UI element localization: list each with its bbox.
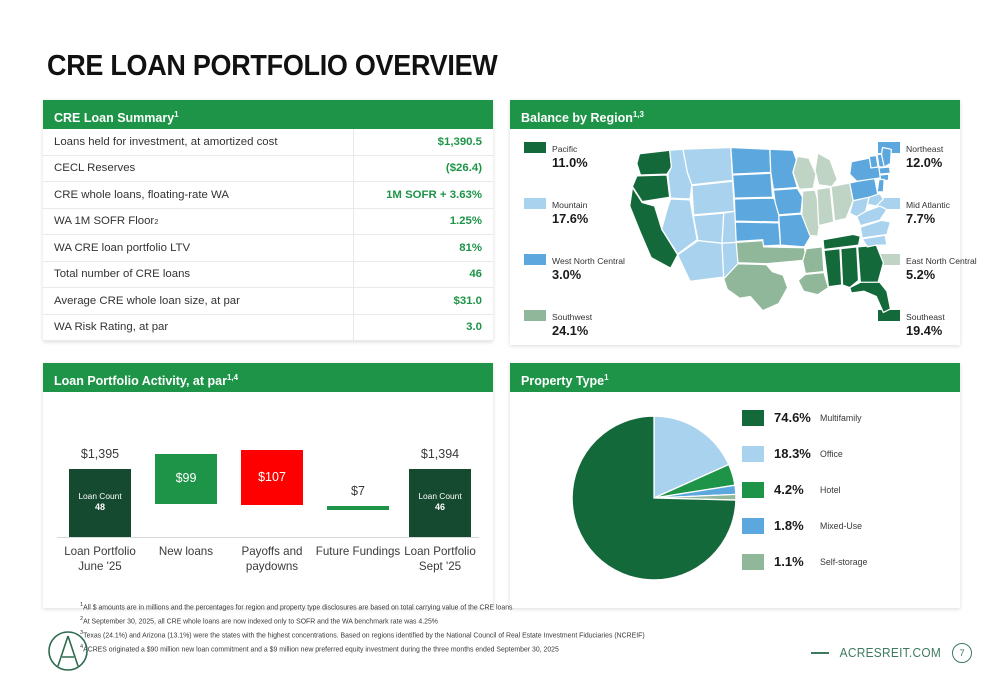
page-title: CRE LOAN PORTFOLIO OVERVIEW	[47, 50, 497, 83]
slide-canvas: CRE LOAN PORTFOLIO OVERVIEW CRE Loan Sum…	[0, 0, 1000, 685]
waterfall-category-line1: Loan Portfolio	[55, 544, 145, 559]
balance-by-region-body: Pacific11.0%Mountain17.6%West North Cent…	[510, 129, 960, 345]
waterfall-loan-count-label: Loan Count	[418, 491, 461, 501]
map-state-mi	[815, 153, 837, 187]
cre-loan-summary-panel: CRE Loan Summary1 Loans held for investm…	[43, 100, 493, 341]
table-row: WA 1M SOFR Floor21.25%	[43, 209, 493, 236]
waterfall-loan-count-value: 46	[409, 502, 471, 513]
summary-row-value: ($26.4)	[354, 162, 493, 174]
region-legend-label: Northeast	[906, 144, 996, 154]
waterfall-baseline	[57, 537, 479, 538]
property-type-legend-percent: 18.3%	[774, 446, 811, 461]
summary-row-label: Average CRE whole loan size, at par	[43, 288, 354, 314]
region-legend-swatch	[524, 198, 546, 209]
waterfall-category-line1: New loans	[141, 544, 231, 559]
region-legend-percent: 7.7%	[906, 211, 996, 226]
summary-row-label: WA CRE loan portfolio LTV	[43, 235, 354, 261]
region-legend-item: Mid Atlantic7.7%	[878, 195, 996, 226]
region-legend-swatch	[524, 310, 546, 321]
property-type-panel: Property Type1 74.6%Multifamily18.3%Offi…	[510, 363, 960, 608]
property-type-legend-percent: 4.2%	[774, 482, 804, 497]
map-state-ia	[773, 188, 802, 215]
footnote-text: At September 30, 2025, all CRE whole loa…	[83, 618, 438, 625]
map-state-oh	[831, 183, 853, 221]
region-legend-percent: 19.4%	[906, 323, 996, 338]
map-state-al	[841, 247, 859, 288]
map-state-wy	[692, 181, 735, 215]
table-row: Average CRE whole loan size, at par$31.0	[43, 288, 493, 315]
map-state-ar	[803, 247, 824, 274]
summary-row-footnote-ref: 2	[154, 217, 158, 226]
property-type-legend-swatch	[742, 410, 764, 426]
summary-row-value: 46	[354, 268, 493, 280]
loan-portfolio-activity-header: Loan Portfolio Activity, at par1,4	[43, 363, 493, 392]
map-state-ma	[879, 167, 891, 174]
property-type-legend-swatch	[742, 446, 764, 462]
property-type-pie-svg	[568, 412, 740, 584]
waterfall-bar-value-inside: $107	[241, 470, 303, 484]
property-type-legend-percent: 1.1%	[774, 554, 804, 569]
acres-logo	[45, 628, 91, 674]
footnote: 1All $ amounts are in millions and the p…	[80, 600, 910, 614]
property-type-legend-item: 18.3%Office	[742, 446, 942, 464]
summary-row-label: CECL Reserves	[43, 156, 354, 182]
property-type-legend-swatch	[742, 554, 764, 570]
waterfall-category-label: Future Fundings	[313, 544, 403, 559]
balance-by-region-header: Balance by Region1,3	[510, 100, 960, 129]
waterfall-category-line1: Loan Portfolio	[395, 544, 485, 559]
footnote-text: Texas (24.1%) and Arizona (13.1%) were t…	[83, 632, 645, 639]
map-state-nd	[731, 148, 771, 175]
loan-portfolio-activity-panel: Loan Portfolio Activity, at par1,4 Loan …	[43, 363, 493, 608]
footnote: 3Texas (24.1%) and Arizona (13.1%) were …	[80, 628, 910, 642]
property-type-legend-item: 74.6%Multifamily	[742, 410, 942, 428]
waterfall-category-label: Loan PortfolioSept '25	[395, 544, 485, 574]
map-state-tx	[724, 264, 788, 311]
map-state-vt	[869, 156, 878, 168]
region-legend-item: East North Central5.2%	[878, 251, 996, 282]
map-state-la	[798, 273, 828, 295]
waterfall-loan-count-label: Loan Count	[78, 491, 121, 501]
summary-row-value: $31.0	[354, 295, 493, 307]
loan-portfolio-activity-header-footnote-ref: 1,4	[227, 373, 238, 382]
region-legend-percent: 12.0%	[906, 155, 996, 170]
us-map-svg	[628, 137, 894, 323]
region-legend-item: West North Central3.0%	[524, 251, 642, 282]
waterfall-bar: $99	[155, 454, 217, 504]
cre-loan-summary-header: CRE Loan Summary1	[43, 100, 493, 129]
waterfall-loan-count-value: 48	[69, 502, 131, 513]
cre-loan-summary-table: Loans held for investment, at amortized …	[43, 129, 493, 341]
map-state-sd	[733, 173, 773, 198]
balance-by-region-panel: Balance by Region1,3 Pacific11.0%Mountai…	[510, 100, 960, 345]
footnotes-block: 1All $ amounts are in millions and the p…	[80, 600, 910, 656]
waterfall-category-label: Payoffs andpaydowns	[227, 544, 317, 574]
map-state-wa	[637, 150, 672, 175]
property-type-legend-item: 1.1%Self-storage	[742, 554, 942, 572]
waterfall-category-line2: June '25	[55, 559, 145, 574]
footnote: 2At September 30, 2025, all CRE whole lo…	[80, 614, 910, 628]
balance-by-region-header-text: Balance by Region	[521, 111, 633, 125]
property-type-legend-label: Mixed-Use	[820, 521, 862, 531]
region-legend-percent: 5.2%	[906, 267, 996, 282]
waterfall-bar-value-label: $1,394	[401, 447, 479, 461]
region-legend-label: Southeast	[906, 312, 996, 322]
summary-row-label: WA 1M SOFR Floor2	[43, 209, 354, 235]
property-type-legend-item: 1.8%Mixed-Use	[742, 518, 942, 536]
waterfall-loan-count: Loan Count48	[69, 491, 131, 513]
acres-logo-icon	[45, 628, 91, 674]
map-state-ga	[858, 245, 884, 282]
page-number-badge: 7	[952, 643, 972, 663]
waterfall-category-line1: Payoffs and	[227, 544, 317, 559]
summary-row-value: 1M SOFR + 3.63%	[354, 189, 493, 201]
property-type-header: Property Type1	[510, 363, 960, 392]
summary-row-value: 3.0	[354, 321, 493, 333]
table-row: CRE whole loans, floating-rate WA1M SOFR…	[43, 182, 493, 209]
property-type-legend-label: Office	[820, 449, 843, 459]
cre-loan-summary-header-text: CRE Loan Summary	[54, 111, 174, 125]
waterfall-bar-value-label: $1,395	[61, 447, 139, 461]
region-legend-label: East North Central	[906, 256, 996, 266]
waterfall-bar: $107	[241, 450, 303, 505]
table-row: WA Risk Rating, at par3.0	[43, 315, 493, 342]
property-type-legend-label: Hotel	[820, 485, 841, 495]
property-type-legend-swatch	[742, 518, 764, 534]
cre-loan-summary-header-footnote-ref: 1	[174, 110, 178, 119]
property-type-legend-label: Self-storage	[820, 557, 867, 567]
region-legend-swatch	[524, 142, 546, 153]
map-state-nj	[877, 179, 884, 191]
property-type-header-text: Property Type	[521, 374, 604, 388]
summary-row-label: CRE whole loans, floating-rate WA	[43, 182, 354, 208]
footnote-text: All $ amounts are in millions and the pe…	[83, 604, 512, 611]
loan-portfolio-activity-header-text: Loan Portfolio Activity, at par	[54, 374, 227, 388]
footnote-text: ACRES originated a $90 million new loan …	[83, 646, 559, 653]
map-state-mt	[683, 148, 733, 185]
table-row: Loans held for investment, at amortized …	[43, 129, 493, 156]
region-legend-item: Southeast19.4%	[878, 307, 996, 338]
region-legend-item: Northeast12.0%	[878, 139, 996, 170]
footer: ACRESREIT.COM 7	[811, 643, 972, 663]
us-region-map	[628, 137, 894, 337]
waterfall-bar: Loan Count48	[69, 469, 131, 537]
waterfall-category-line2: Sept '25	[395, 559, 485, 574]
region-legend-label: Mid Atlantic	[906, 200, 996, 210]
waterfall-category-label: Loan PortfolioJune '25	[55, 544, 145, 574]
property-type-body: 74.6%Multifamily18.3%Office4.2%Hotel1.8%…	[510, 392, 960, 608]
summary-row-label: Loans held for investment, at amortized …	[43, 129, 354, 155]
summary-row-value: 1.25%	[354, 215, 493, 227]
summary-row-value: 81%	[354, 242, 493, 254]
region-legend-item: Pacific11.0%	[524, 139, 642, 170]
property-type-legend-swatch	[742, 482, 764, 498]
table-row: Total number of CRE loans46	[43, 262, 493, 289]
property-type-legend-percent: 1.8%	[774, 518, 804, 533]
waterfall-loan-count: Loan Count46	[409, 491, 471, 513]
map-state-me	[882, 148, 892, 168]
property-type-pie	[568, 412, 740, 589]
region-legend-item: Southwest24.1%	[524, 307, 642, 338]
table-row: CECL Reserves($26.4)	[43, 156, 493, 183]
region-legend-swatch	[524, 254, 546, 265]
map-state-ne	[734, 198, 780, 222]
footnote: 4ACRES originated a $90 million new loan…	[80, 642, 910, 656]
waterfall-category-line2: paydowns	[227, 559, 317, 574]
footer-dash-icon	[811, 652, 829, 653]
waterfall-bar-value-inside: $99	[155, 471, 217, 485]
region-legend-item: Mountain17.6%	[524, 195, 642, 226]
property-type-legend-item: 4.2%Hotel	[742, 482, 942, 500]
waterfall-bar	[327, 506, 389, 510]
waterfall-category-line1: Future Fundings	[313, 544, 403, 559]
summary-row-label: WA Risk Rating, at par	[43, 315, 354, 341]
waterfall-category-label: New loans	[141, 544, 231, 559]
waterfall-bar-value-label: $7	[319, 484, 397, 498]
map-state-fl	[850, 282, 891, 312]
loan-portfolio-activity-body: Loan Count48$1,395Loan PortfolioJune '25…	[43, 392, 493, 608]
waterfall-bar: Loan Count46	[409, 469, 471, 537]
summary-row-label: Total number of CRE loans	[43, 262, 354, 288]
property-type-legend-label: Multifamily	[820, 413, 862, 423]
balance-by-region-header-footnote-ref: 1,3	[633, 110, 644, 119]
property-type-legend-percent: 74.6%	[774, 410, 811, 425]
property-type-header-footnote-ref: 1	[604, 373, 608, 382]
footer-url[interactable]: ACRESREIT.COM	[840, 646, 941, 660]
table-row: WA CRE loan portfolio LTV81%	[43, 235, 493, 262]
summary-row-value: $1,390.5	[354, 136, 493, 148]
waterfall-chart: Loan Count48$1,395Loan PortfolioJune '25…	[43, 392, 493, 608]
